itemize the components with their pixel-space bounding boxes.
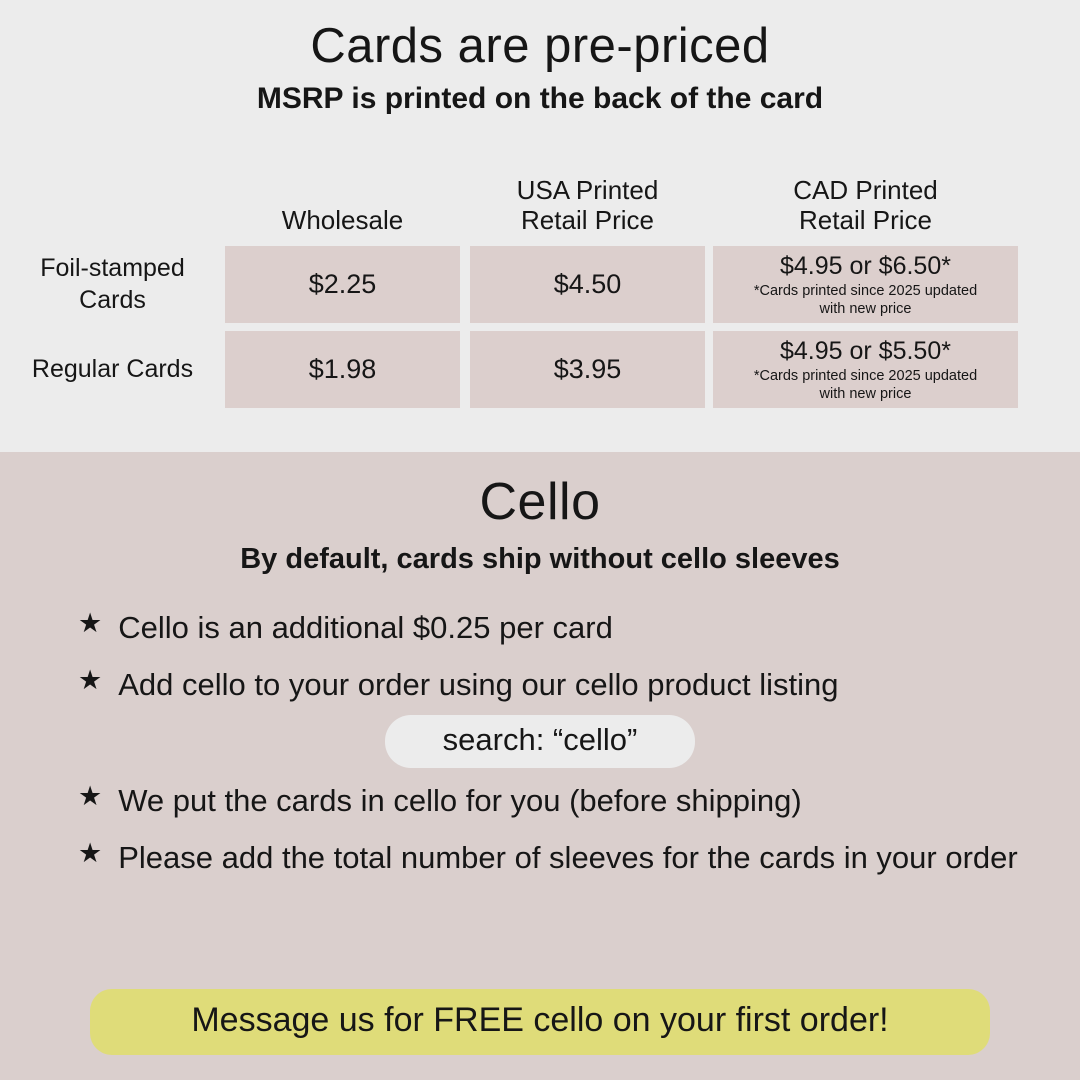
star-icon: ★ <box>78 772 102 822</box>
list-item: ★ We put the cards in cello for you (bef… <box>0 772 1080 829</box>
cell-regular-wholesale: $1.98 <box>225 331 460 408</box>
cell-regular-wholesale-value: $1.98 <box>309 353 377 385</box>
infographic-page: Cards are pre-priced MSRP is printed on … <box>0 0 1080 1080</box>
cell-foil-cad-retail-note: *Cards printed since 2025 updated with n… <box>748 283 983 317</box>
cell-foil-cad-retail: $4.95 or $6.50* *Cards printed since 202… <box>713 246 1018 323</box>
cell-foil-cad-note-line2: with new price <box>754 301 977 318</box>
cell-foil-wholesale: $2.25 <box>225 246 460 323</box>
pricing-table: Wholesale USA Printed Retail Price CAD P… <box>0 160 1080 408</box>
star-icon: ★ <box>78 829 102 879</box>
column-header-usa-retail: USA Printed Retail Price <box>470 160 705 238</box>
table-row: Foil-stamped Cards $2.25 $4.50 $4.95 or … <box>0 246 1080 323</box>
cell-regular-usa-retail-value: $3.95 <box>554 353 622 385</box>
bullet-text: Add cello to your order using our cello … <box>118 656 1040 713</box>
cell-regular-cad-retail: $4.95 or $5.50* *Cards printed since 202… <box>713 331 1018 408</box>
column-header-wholesale-line1: Wholesale <box>282 206 403 236</box>
cello-subtitle: By default, cards ship without cello sle… <box>0 531 1080 576</box>
column-header-cad-retail: CAD Printed Retail Price <box>713 160 1018 238</box>
row-label-foil-stamped: Foil-stamped Cards <box>0 246 225 323</box>
cell-regular-cad-retail-note: *Cards printed since 2025 updated with n… <box>748 368 983 402</box>
column-header-wholesale: Wholesale <box>225 160 460 238</box>
cell-foil-wholesale-value: $2.25 <box>309 268 377 300</box>
header-corner-blank <box>0 160 225 238</box>
cell-foil-usa-retail-value: $4.50 <box>554 268 622 300</box>
cell-regular-cad-note-line1: *Cards printed since 2025 updated <box>754 368 977 385</box>
bullet-text: We put the cards in cello for you (befor… <box>118 772 1040 829</box>
cell-regular-usa-retail: $3.95 <box>470 331 705 408</box>
pricing-section: Cards are pre-priced MSRP is printed on … <box>0 0 1080 452</box>
cell-regular-cad-note-line2: with new price <box>754 386 977 403</box>
cell-foil-cad-note-line1: *Cards printed since 2025 updated <box>754 283 977 300</box>
row-label-regular-line1: Regular Cards <box>32 354 193 385</box>
cell-foil-cad-retail-value: $4.95 or $6.50* <box>780 251 951 281</box>
row-label-foil-stamped-line2: Cards <box>40 285 185 316</box>
list-item: ★ Please add the total number of sleeves… <box>0 829 1080 886</box>
search-cello-pill[interactable]: search: “cello” <box>385 715 696 768</box>
cello-title: Cello <box>0 452 1080 531</box>
table-header-row: Wholesale USA Printed Retail Price CAD P… <box>0 160 1080 238</box>
page-subtitle: MSRP is printed on the back of the card <box>0 74 1080 117</box>
cta-banner-wrap: Message us for FREE cello on your first … <box>0 989 1080 1055</box>
bullet-text: Cello is an additional $0.25 per card <box>118 599 1040 656</box>
row-label-foil-stamped-line1: Foil-stamped <box>40 253 185 284</box>
list-item: ★ Add cello to your order using our cell… <box>0 656 1080 713</box>
column-header-usa-retail-line2: Retail Price <box>521 206 654 236</box>
free-cello-cta-banner[interactable]: Message us for FREE cello on your first … <box>90 989 990 1055</box>
cell-regular-cad-retail-value: $4.95 or $5.50* <box>780 336 951 366</box>
column-header-usa-retail-line1: USA Printed <box>517 176 659 206</box>
row-label-regular: Regular Cards <box>0 331 225 408</box>
column-header-cad-retail-line1: CAD Printed <box>793 176 938 206</box>
cell-foil-usa-retail: $4.50 <box>470 246 705 323</box>
cello-section: Cello By default, cards ship without cel… <box>0 452 1080 1080</box>
star-icon: ★ <box>78 656 102 706</box>
list-item: ★ Cello is an additional $0.25 per card <box>0 599 1080 656</box>
bullet-text: Please add the total number of sleeves f… <box>118 829 1040 886</box>
page-title: Cards are pre-priced <box>0 0 1080 74</box>
table-row: Regular Cards $1.98 $3.95 $4.95 or $5.50… <box>0 331 1080 408</box>
column-header-cad-retail-line2: Retail Price <box>799 206 932 236</box>
star-icon: ★ <box>78 599 102 649</box>
search-hint-row: search: “cello” <box>0 715 1080 768</box>
cello-bullet-list: ★ Cello is an additional $0.25 per card … <box>0 577 1080 887</box>
